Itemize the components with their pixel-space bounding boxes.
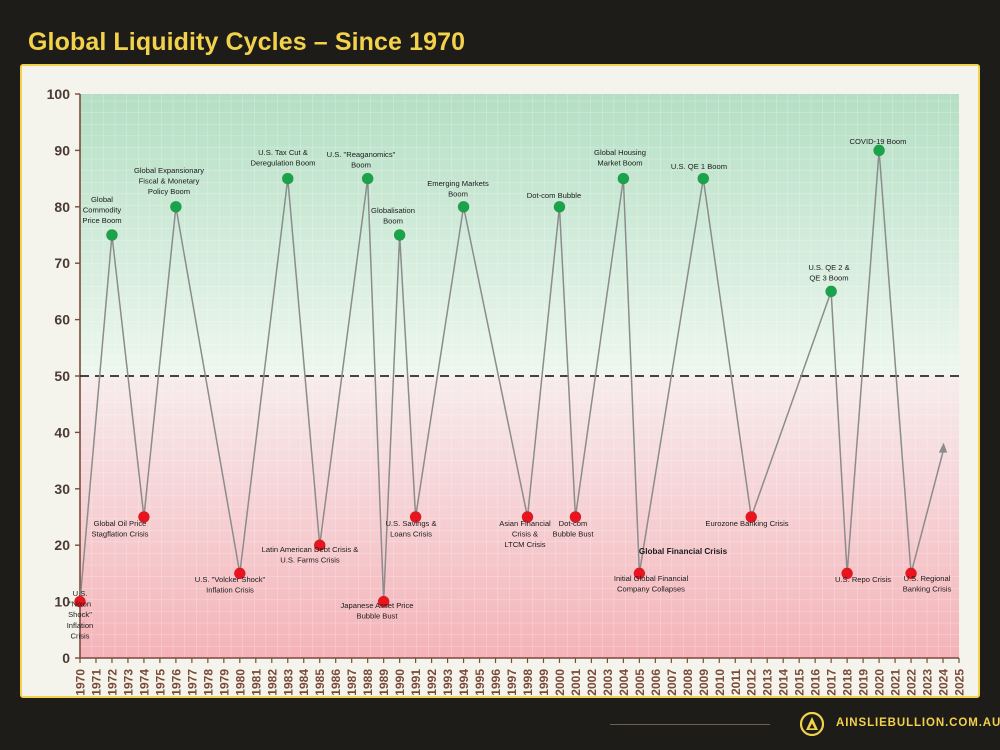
svg-text:Dot-com: Dot-com bbox=[559, 519, 588, 528]
footer-divider bbox=[610, 724, 770, 725]
svg-text:Policy Boom: Policy Boom bbox=[148, 187, 190, 196]
svg-text:100: 100 bbox=[47, 86, 71, 102]
svg-text:2008: 2008 bbox=[681, 669, 695, 696]
annotation-us-savings-loans-crisis: U.S. Savings &Loans Crisis bbox=[385, 519, 436, 539]
svg-text:1992: 1992 bbox=[425, 669, 439, 696]
svg-text:Price Boom: Price Boom bbox=[82, 216, 121, 225]
svg-text:1976: 1976 bbox=[169, 669, 183, 696]
svg-text:40: 40 bbox=[54, 424, 70, 440]
svg-text:30: 30 bbox=[54, 481, 70, 497]
svg-text:Global Housing: Global Housing bbox=[594, 148, 646, 157]
svg-text:"Nixon: "Nixon bbox=[69, 600, 91, 609]
svg-text:Eurozone Banking Crisis: Eurozone Banking Crisis bbox=[705, 519, 788, 528]
svg-text:1998: 1998 bbox=[521, 669, 535, 696]
annotation-us-regional-banking-crisis: U.S. RegionalBanking Crisis bbox=[903, 574, 952, 594]
svg-text:1997: 1997 bbox=[505, 669, 519, 696]
svg-text:2003: 2003 bbox=[601, 669, 615, 696]
page-title: Global Liquidity Cycles – Since 1970 bbox=[28, 28, 465, 57]
svg-text:2022: 2022 bbox=[905, 669, 919, 696]
svg-text:1990: 1990 bbox=[393, 669, 407, 696]
annotation-global-financial-crisis: Global Financial Crisis bbox=[639, 547, 728, 556]
ainslie-triangle-a-logo-icon bbox=[800, 712, 824, 736]
svg-text:1994: 1994 bbox=[457, 669, 471, 696]
svg-text:U.S. "Reaganomics": U.S. "Reaganomics" bbox=[327, 150, 396, 159]
y-axis-ticks: 0102030405060708090100 bbox=[47, 86, 80, 666]
svg-text:Emerging Markets: Emerging Markets bbox=[427, 179, 489, 188]
svg-text:2025: 2025 bbox=[953, 669, 967, 696]
annotation-covid-19-boom: COVID-19 Boom bbox=[850, 137, 907, 146]
svg-text:Boom: Boom bbox=[448, 190, 468, 199]
peak-marker-2000 bbox=[554, 201, 565, 212]
annotation-us-qe2-qe3-boom: U.S. QE 2 &QE 3 Boom bbox=[808, 263, 849, 283]
svg-text:Global: Global bbox=[91, 195, 113, 204]
svg-text:Fiscal & Monetary: Fiscal & Monetary bbox=[139, 177, 200, 186]
svg-text:2021: 2021 bbox=[889, 669, 903, 696]
peak-marker-1994 bbox=[458, 201, 469, 212]
svg-text:U.S. Tax Cut &: U.S. Tax Cut & bbox=[258, 148, 308, 157]
svg-text:Crisis &: Crisis & bbox=[512, 530, 538, 539]
svg-text:2019: 2019 bbox=[857, 669, 871, 696]
peak-marker-2017 bbox=[826, 286, 837, 297]
svg-text:1981: 1981 bbox=[249, 669, 263, 696]
svg-text:COVID-19 Boom: COVID-19 Boom bbox=[850, 137, 907, 146]
svg-text:1986: 1986 bbox=[329, 669, 343, 696]
svg-text:1989: 1989 bbox=[377, 669, 391, 696]
svg-text:1971: 1971 bbox=[89, 669, 103, 696]
svg-text:10: 10 bbox=[54, 594, 70, 610]
svg-text:Boom: Boom bbox=[383, 217, 403, 226]
svg-text:2012: 2012 bbox=[745, 669, 759, 696]
peak-marker-1990 bbox=[394, 229, 405, 240]
svg-text:2005: 2005 bbox=[633, 669, 647, 696]
svg-text:2007: 2007 bbox=[665, 669, 679, 696]
svg-text:60: 60 bbox=[54, 312, 70, 328]
svg-text:Japanese Asset Price: Japanese Asset Price bbox=[340, 601, 413, 610]
svg-text:1984: 1984 bbox=[297, 669, 311, 696]
svg-text:Market Boom: Market Boom bbox=[597, 159, 642, 168]
svg-text:Global Expansionary: Global Expansionary bbox=[134, 166, 204, 175]
svg-text:U.S. Regional: U.S. Regional bbox=[904, 574, 951, 583]
svg-text:20: 20 bbox=[54, 537, 70, 553]
svg-text:QE 3 Boom: QE 3 Boom bbox=[809, 274, 848, 283]
peak-marker-2009 bbox=[698, 173, 709, 184]
svg-text:Initial Global Financial: Initial Global Financial bbox=[614, 574, 689, 583]
svg-text:Commodity: Commodity bbox=[83, 206, 122, 215]
svg-text:2023: 2023 bbox=[921, 669, 935, 696]
annotation-us-tax-cut-deregulation-boom: U.S. Tax Cut &Deregulation Boom bbox=[250, 148, 315, 168]
annotation-global-oil-price-stagflation-crisis: Global Oil PriceStagflation Crisis bbox=[92, 519, 149, 539]
svg-text:Global Oil Price: Global Oil Price bbox=[94, 519, 147, 528]
svg-text:Global Financial Crisis: Global Financial Crisis bbox=[639, 547, 728, 556]
svg-text:U.S. QE 1 Boom: U.S. QE 1 Boom bbox=[671, 162, 727, 171]
svg-text:1975: 1975 bbox=[153, 669, 167, 696]
svg-text:2024: 2024 bbox=[937, 669, 951, 696]
svg-text:Asian Financial: Asian Financial bbox=[499, 519, 551, 528]
svg-text:Shock": Shock" bbox=[68, 610, 92, 619]
svg-text:2015: 2015 bbox=[793, 669, 807, 696]
svg-text:1993: 1993 bbox=[441, 669, 455, 696]
svg-text:2001: 2001 bbox=[569, 669, 583, 696]
svg-text:2013: 2013 bbox=[761, 669, 775, 696]
svg-text:1982: 1982 bbox=[265, 669, 279, 696]
svg-text:1985: 1985 bbox=[313, 669, 327, 696]
svg-text:2004: 2004 bbox=[617, 669, 631, 696]
svg-text:1973: 1973 bbox=[121, 669, 135, 696]
annotation-global-housing-market-boom: Global HousingMarket Boom bbox=[594, 148, 646, 168]
annotation-eurozone-banking-crisis: Eurozone Banking Crisis bbox=[705, 519, 788, 528]
annotation-initial-global-financial-company-collapses: Initial Global FinancialCompany Collapse… bbox=[614, 574, 689, 594]
svg-text:Dot-com Bubble: Dot-com Bubble bbox=[527, 191, 581, 200]
svg-text:90: 90 bbox=[54, 142, 70, 158]
svg-text:Boom: Boom bbox=[351, 161, 371, 170]
svg-text:2016: 2016 bbox=[809, 669, 823, 696]
svg-text:1974: 1974 bbox=[137, 669, 151, 696]
svg-text:2011: 2011 bbox=[729, 669, 743, 695]
svg-text:2020: 2020 bbox=[873, 669, 887, 696]
svg-text:Loans Crisis: Loans Crisis bbox=[390, 530, 432, 539]
svg-text:2000: 2000 bbox=[553, 669, 567, 696]
svg-text:Deregulation Boom: Deregulation Boom bbox=[250, 159, 315, 168]
chart-canvas: 0102030405060708090100 19701971197219731… bbox=[22, 66, 978, 696]
svg-text:U.S. QE 2 &: U.S. QE 2 & bbox=[808, 263, 849, 272]
svg-text:1972: 1972 bbox=[105, 669, 119, 696]
svg-text:50: 50 bbox=[54, 368, 70, 384]
svg-text:1995: 1995 bbox=[473, 669, 487, 696]
svg-text:1999: 1999 bbox=[537, 669, 551, 696]
svg-text:U.S.: U.S. bbox=[73, 589, 88, 598]
svg-text:1996: 1996 bbox=[489, 669, 503, 696]
svg-text:1983: 1983 bbox=[281, 669, 295, 696]
svg-text:Bubble Bust: Bubble Bust bbox=[357, 612, 399, 621]
svg-text:70: 70 bbox=[54, 255, 70, 271]
svg-text:Crisis: Crisis bbox=[71, 631, 90, 640]
peak-marker-2004 bbox=[618, 173, 629, 184]
svg-text:U.S. Savings &: U.S. Savings & bbox=[385, 519, 436, 528]
svg-text:1988: 1988 bbox=[361, 669, 375, 696]
x-axis-ticks: 1970197119721973197419751976197719781979… bbox=[74, 658, 967, 696]
svg-text:Inflation: Inflation bbox=[67, 621, 94, 630]
svg-text:1987: 1987 bbox=[345, 669, 359, 696]
peak-marker-1976 bbox=[170, 201, 181, 212]
svg-text:2018: 2018 bbox=[841, 669, 855, 696]
svg-text:2009: 2009 bbox=[697, 669, 711, 696]
svg-text:80: 80 bbox=[54, 199, 70, 215]
annotation-dot-com-bubble: Dot-com Bubble bbox=[527, 191, 581, 200]
svg-text:U.S. Farms Crisis: U.S. Farms Crisis bbox=[280, 556, 340, 565]
chart-card: 0102030405060708090100 19701971197219731… bbox=[20, 64, 980, 698]
svg-text:Bubble Bust: Bubble Bust bbox=[553, 530, 595, 539]
annotation-us-qe1-boom: U.S. QE 1 Boom bbox=[671, 162, 727, 171]
svg-text:Latin American Debt Crisis &: Latin American Debt Crisis & bbox=[262, 545, 359, 554]
svg-text:1977: 1977 bbox=[185, 669, 199, 696]
svg-text:Company Collapses: Company Collapses bbox=[617, 585, 685, 594]
annotation-us-repo-crisis: U.S. Repo Crisis bbox=[835, 575, 891, 584]
svg-text:2014: 2014 bbox=[777, 669, 791, 696]
svg-text:1980: 1980 bbox=[233, 669, 247, 696]
svg-text:1978: 1978 bbox=[201, 669, 215, 696]
footer: AINSLIEBULLION.COM.AU bbox=[0, 698, 1000, 750]
svg-text:Inflation Crisis: Inflation Crisis bbox=[206, 586, 254, 595]
peak-marker-2020 bbox=[873, 145, 884, 156]
svg-text:U.S. Repo Crisis: U.S. Repo Crisis bbox=[835, 575, 891, 584]
svg-text:U.S. "Volcker Shock": U.S. "Volcker Shock" bbox=[195, 575, 266, 584]
svg-text:2017: 2017 bbox=[825, 669, 839, 696]
peak-marker-1972 bbox=[106, 229, 117, 240]
peak-marker-1988 bbox=[362, 173, 373, 184]
svg-text:0: 0 bbox=[62, 650, 70, 666]
svg-text:Stagflation Crisis: Stagflation Crisis bbox=[92, 530, 149, 539]
svg-text:1979: 1979 bbox=[217, 669, 231, 696]
peak-marker-1983 bbox=[282, 173, 293, 184]
svg-text:1970: 1970 bbox=[74, 669, 88, 696]
svg-text:Banking Crisis: Banking Crisis bbox=[903, 585, 952, 594]
svg-text:1991: 1991 bbox=[409, 669, 423, 696]
svg-text:LTCM Crisis: LTCM Crisis bbox=[504, 540, 545, 549]
svg-text:Globalisation: Globalisation bbox=[371, 206, 415, 215]
footer-site-label: AINSLIEBULLION.COM.AU bbox=[836, 717, 1000, 729]
svg-text:2010: 2010 bbox=[713, 669, 727, 696]
svg-text:2002: 2002 bbox=[585, 669, 599, 696]
svg-text:2006: 2006 bbox=[649, 669, 663, 696]
liquidity-cycles-line-chart: 0102030405060708090100 19701971197219731… bbox=[22, 66, 978, 696]
